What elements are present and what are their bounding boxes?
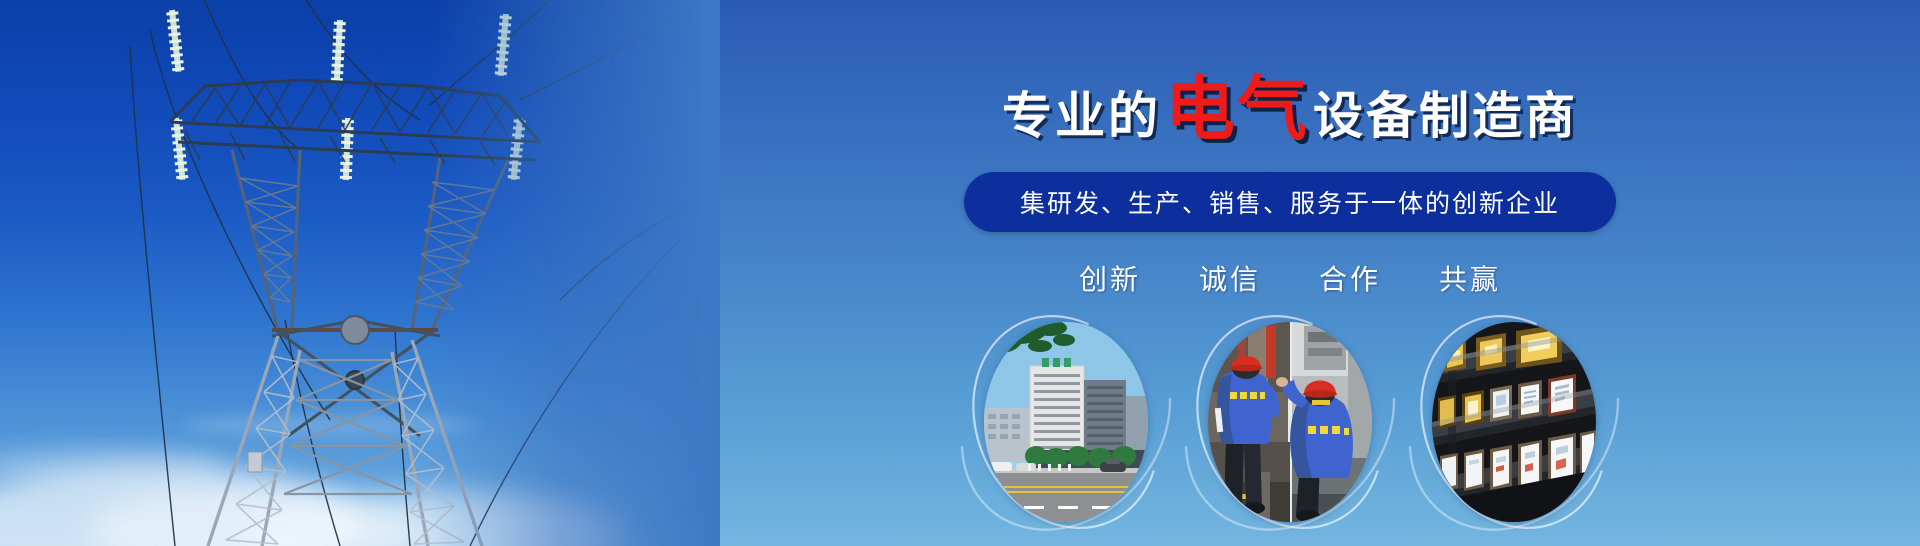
electrical-workers-installation-image — [1208, 322, 1372, 522]
photo-circle-group — [984, 322, 1596, 522]
photo-circle-office-building[interactable] — [984, 322, 1148, 522]
tagline-pill: 集研发、生产、销售、服务于一体的创新企业 — [964, 172, 1616, 232]
hero-banner: 专业的电气设备制造商 集研发、生产、销售、服务于一体的创新企业 创新 诚信 合作… — [0, 0, 1920, 546]
banner-content: 专业的电气设备制造商 集研发、生产、销售、服务于一体的创新企业 创新 诚信 合作… — [660, 0, 1920, 546]
office-building-exterior-image — [984, 322, 1148, 522]
headline-highlight: 电气 — [1161, 70, 1313, 148]
headline-suffix: 设备制造商 — [1313, 88, 1578, 144]
keyword-item: 创新 — [1079, 258, 1141, 298]
photo-circle-workers[interactable] — [1208, 322, 1372, 522]
page-title: 专业的电气设备制造商 — [1002, 74, 1578, 144]
keyword-list: 创新 诚信 合作 共赢 — [1079, 258, 1501, 298]
keyword-item: 诚信 — [1199, 258, 1261, 298]
certificates-awards-wall-image — [1432, 322, 1596, 522]
photo-circle-certificates[interactable] — [1432, 322, 1596, 522]
headline-prefix: 专业的 — [1002, 88, 1161, 144]
keyword-item: 合作 — [1319, 258, 1381, 298]
keyword-item: 共赢 — [1439, 258, 1501, 298]
